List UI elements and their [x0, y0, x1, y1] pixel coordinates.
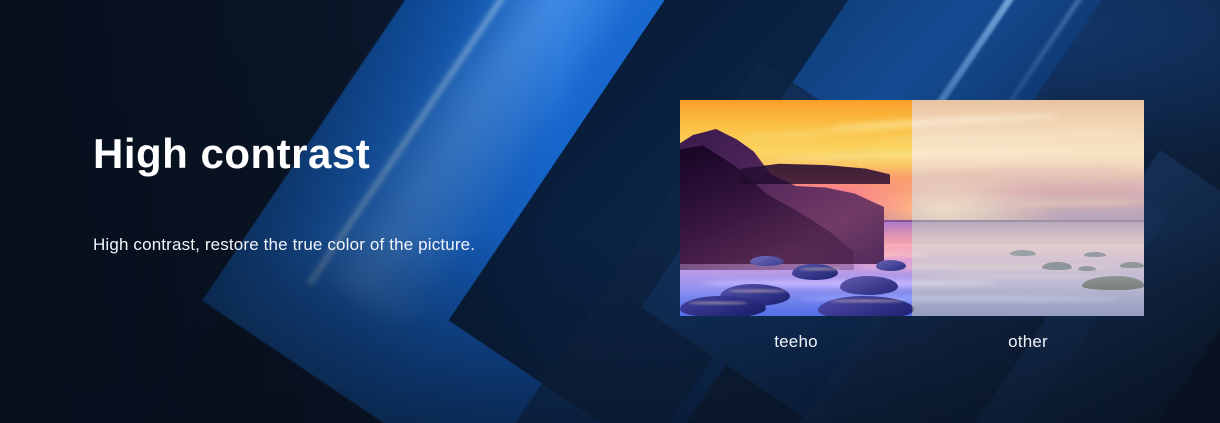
foreground-rock: [840, 276, 898, 295]
copy-block: High contrast High contrast, restore the…: [93, 128, 523, 261]
label-other: other: [912, 330, 1144, 354]
foreground-rock: [680, 296, 766, 316]
foreground-rock: [818, 296, 912, 316]
sunset-beach-scene-washed: [912, 100, 1144, 316]
offshore-rock-large: [1082, 276, 1144, 290]
offshore-rock: [1120, 262, 1144, 268]
comparison-half-teeho: [680, 100, 912, 316]
foreground-rock: [750, 256, 784, 266]
offshore-rock: [1078, 266, 1096, 271]
comparison-labels: teeho other: [680, 330, 1144, 356]
product-feature-banner: High contrast High contrast, restore the…: [0, 0, 1220, 423]
comparison-half-other: [912, 100, 1144, 316]
label-teeho: teeho: [680, 330, 912, 354]
rock-highlight: [688, 302, 748, 304]
horizon-line: [912, 220, 1144, 222]
offshore-rock: [1010, 250, 1036, 256]
distant-sea-band: [912, 220, 1144, 246]
rock-highlight: [728, 290, 786, 292]
comparison-image: [680, 100, 1144, 316]
offshore-rock: [1084, 252, 1106, 257]
rock-highlight: [800, 268, 840, 270]
sunset-beach-scene-enhanced: [680, 100, 912, 316]
rock-highlight: [830, 300, 904, 302]
page-title: High contrast: [93, 128, 523, 180]
offshore-rock: [1042, 262, 1072, 270]
foreground-rock: [876, 260, 906, 271]
page-subtitle: High contrast, restore the true color of…: [93, 180, 498, 261]
foreground-rock: [792, 264, 838, 280]
